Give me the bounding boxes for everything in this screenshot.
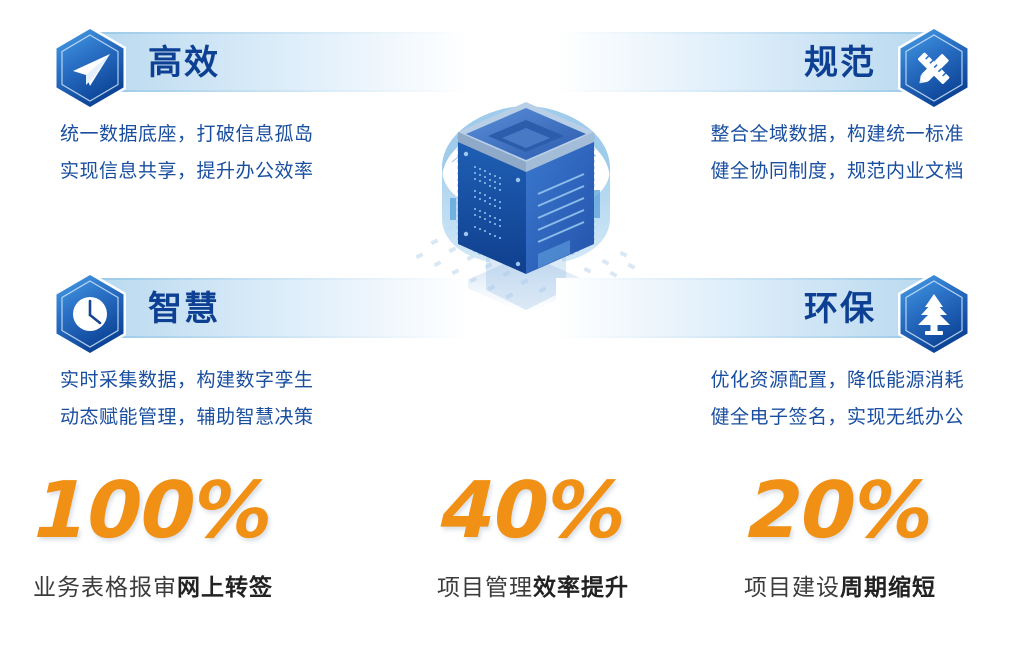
paper-plane-icon [46,24,134,112]
card-line: 健全电子签名，实现无纸办公 [556,399,964,436]
card-title: 环保 [804,286,876,332]
stat-caption: 项目建设周期缩短 [672,568,1008,602]
stat-value: 100% [0,468,323,554]
stat-caption: 业务表格报审网上转签 [0,568,321,602]
card-description: 整合全域数据，构建统一标准 健全协同制度，规范内业文档 [556,116,986,190]
stat-caption-bold: 周期缩短 [840,574,936,600]
statistics-row: 100% 业务表格报审网上转签 40% 项目管理效率提升 20% 项目建设周期缩… [0,468,1009,618]
stat-caption-normal: 业务表格报审 [33,574,177,600]
infographic-stage: 高效 统一数据底座，打破信息孤岛 实现信息共享，提升办公效率 [0,0,1009,646]
stat-caption-bold: 效率提升 [533,574,629,600]
card-description: 实时采集数据，构建数字孪生 动态赋能管理，辅助智慧决策 [38,362,468,436]
pencil-ruler-icon [890,24,978,112]
feature-card-environment: 环保 优化资源配置，降低能源消耗 健全电子签名，实现无纸办公 [556,272,986,472]
feature-card-standard: 规范 整合全域数据，构建统一标准 健全协同制度，规范内业文档 [556,26,986,226]
pine-tree-icon [890,270,978,358]
stat-item: 100% 业务表格报审网上转签 [0,468,321,602]
card-line: 实现信息共享，提升办公效率 [60,153,468,190]
card-line: 优化资源配置，降低能源消耗 [556,362,964,399]
stat-value: 40% [363,468,702,554]
card-line: 统一数据底座，打破信息孤岛 [60,116,468,153]
stat-caption: 项目管理效率提升 [365,568,701,602]
feature-card-intelligence: 智慧 实时采集数据，构建数字孪生 动态赋能管理，辅助智慧决策 [38,272,468,472]
stat-caption-normal: 项目建设 [744,574,840,600]
card-line: 动态赋能管理，辅助智慧决策 [60,399,468,436]
card-description: 统一数据底座，打破信息孤岛 实现信息共享，提升办公效率 [38,116,468,190]
card-description: 优化资源配置，降低能源消耗 健全电子签名，实现无纸办公 [556,362,986,436]
card-title: 高效 [148,40,220,86]
stat-item: 40% 项目管理效率提升 [365,468,701,602]
card-line: 实时采集数据，构建数字孪生 [60,362,468,399]
stat-caption-bold: 网上转签 [177,574,273,600]
card-title: 规范 [804,40,876,86]
clock-icon [46,270,134,358]
card-title: 智慧 [148,286,220,332]
stat-value: 20% [670,468,1009,554]
card-line: 整合全域数据，构建统一标准 [556,116,964,153]
card-line: 健全协同制度，规范内业文档 [556,153,964,190]
stat-item: 20% 项目建设周期缩短 [672,468,1008,602]
feature-card-efficiency: 高效 统一数据底座，打破信息孤岛 实现信息共享，提升办公效率 [38,26,468,226]
stat-caption-normal: 项目管理 [437,574,533,600]
